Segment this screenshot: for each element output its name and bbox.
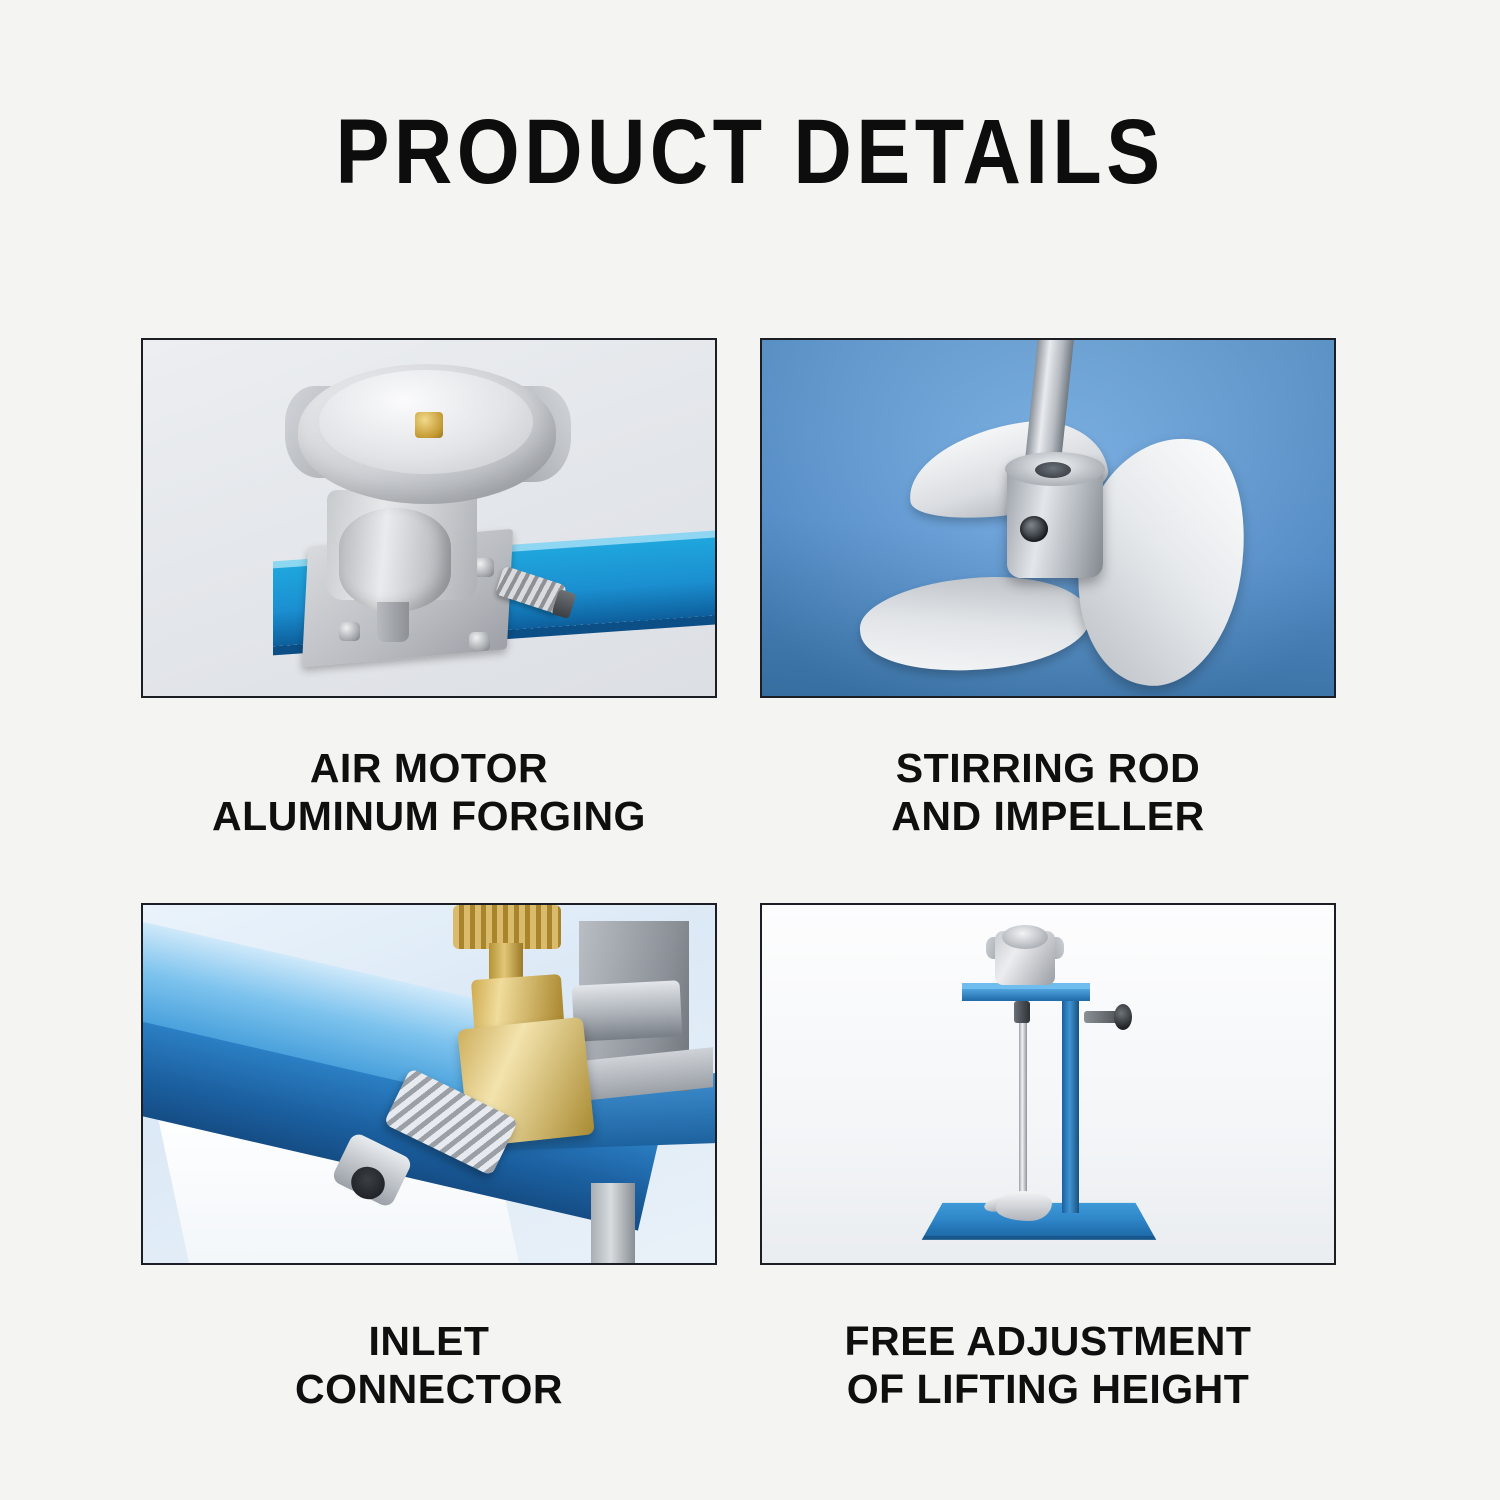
stand-vertical-column: [1062, 995, 1079, 1213]
photo-stirring-rod-impeller: [760, 338, 1336, 698]
air-pipe: [572, 980, 683, 1042]
product-details-grid: AIR MOTOR ALUMINUM FORGING STIRRING ROD …: [141, 338, 1336, 1414]
motor-cylinder: [339, 508, 451, 612]
shaft-clamp: [1014, 1001, 1030, 1023]
caption-inlet-connector: INLET CONNECTOR: [141, 1317, 717, 1414]
stirring-shaft: [1019, 1001, 1027, 1201]
motor-output-stub: [377, 602, 409, 642]
frame-leg: [591, 1183, 635, 1265]
height-adjust-knob: [1114, 1004, 1132, 1030]
hub-set-screw: [1020, 516, 1048, 542]
photo-air-motor: [141, 338, 717, 698]
impeller-blades: [996, 1191, 1052, 1221]
caption-lifting-height: FREE ADJUSTMENT OF LIFTING HEIGHT: [760, 1317, 1336, 1414]
product-detail-card-stirring-rod-impeller: STIRRING ROD AND IMPELLER: [760, 338, 1336, 841]
photo-inlet-connector: [141, 903, 717, 1265]
brass-plug: [415, 412, 443, 438]
flange-bolt: [469, 632, 490, 651]
product-detail-card-air-motor: AIR MOTOR ALUMINUM FORGING: [141, 338, 717, 841]
page-title: PRODUCT DETAILS: [90, 106, 1410, 198]
air-motor-head: [1002, 925, 1048, 949]
caption-stirring-rod-impeller: STIRRING ROD AND IMPELLER: [760, 744, 1336, 841]
flange-bolt: [339, 622, 360, 641]
impeller-hub-bore: [1035, 462, 1071, 478]
caption-air-motor: AIR MOTOR ALUMINUM FORGING: [141, 744, 717, 841]
photo-lifting-height: [760, 903, 1336, 1265]
stand-horizontal-arm: [962, 989, 1090, 1001]
product-detail-card-lifting-height: FREE ADJUSTMENT OF LIFTING HEIGHT: [760, 903, 1336, 1414]
product-detail-card-inlet-connector: INLET CONNECTOR: [141, 903, 717, 1414]
